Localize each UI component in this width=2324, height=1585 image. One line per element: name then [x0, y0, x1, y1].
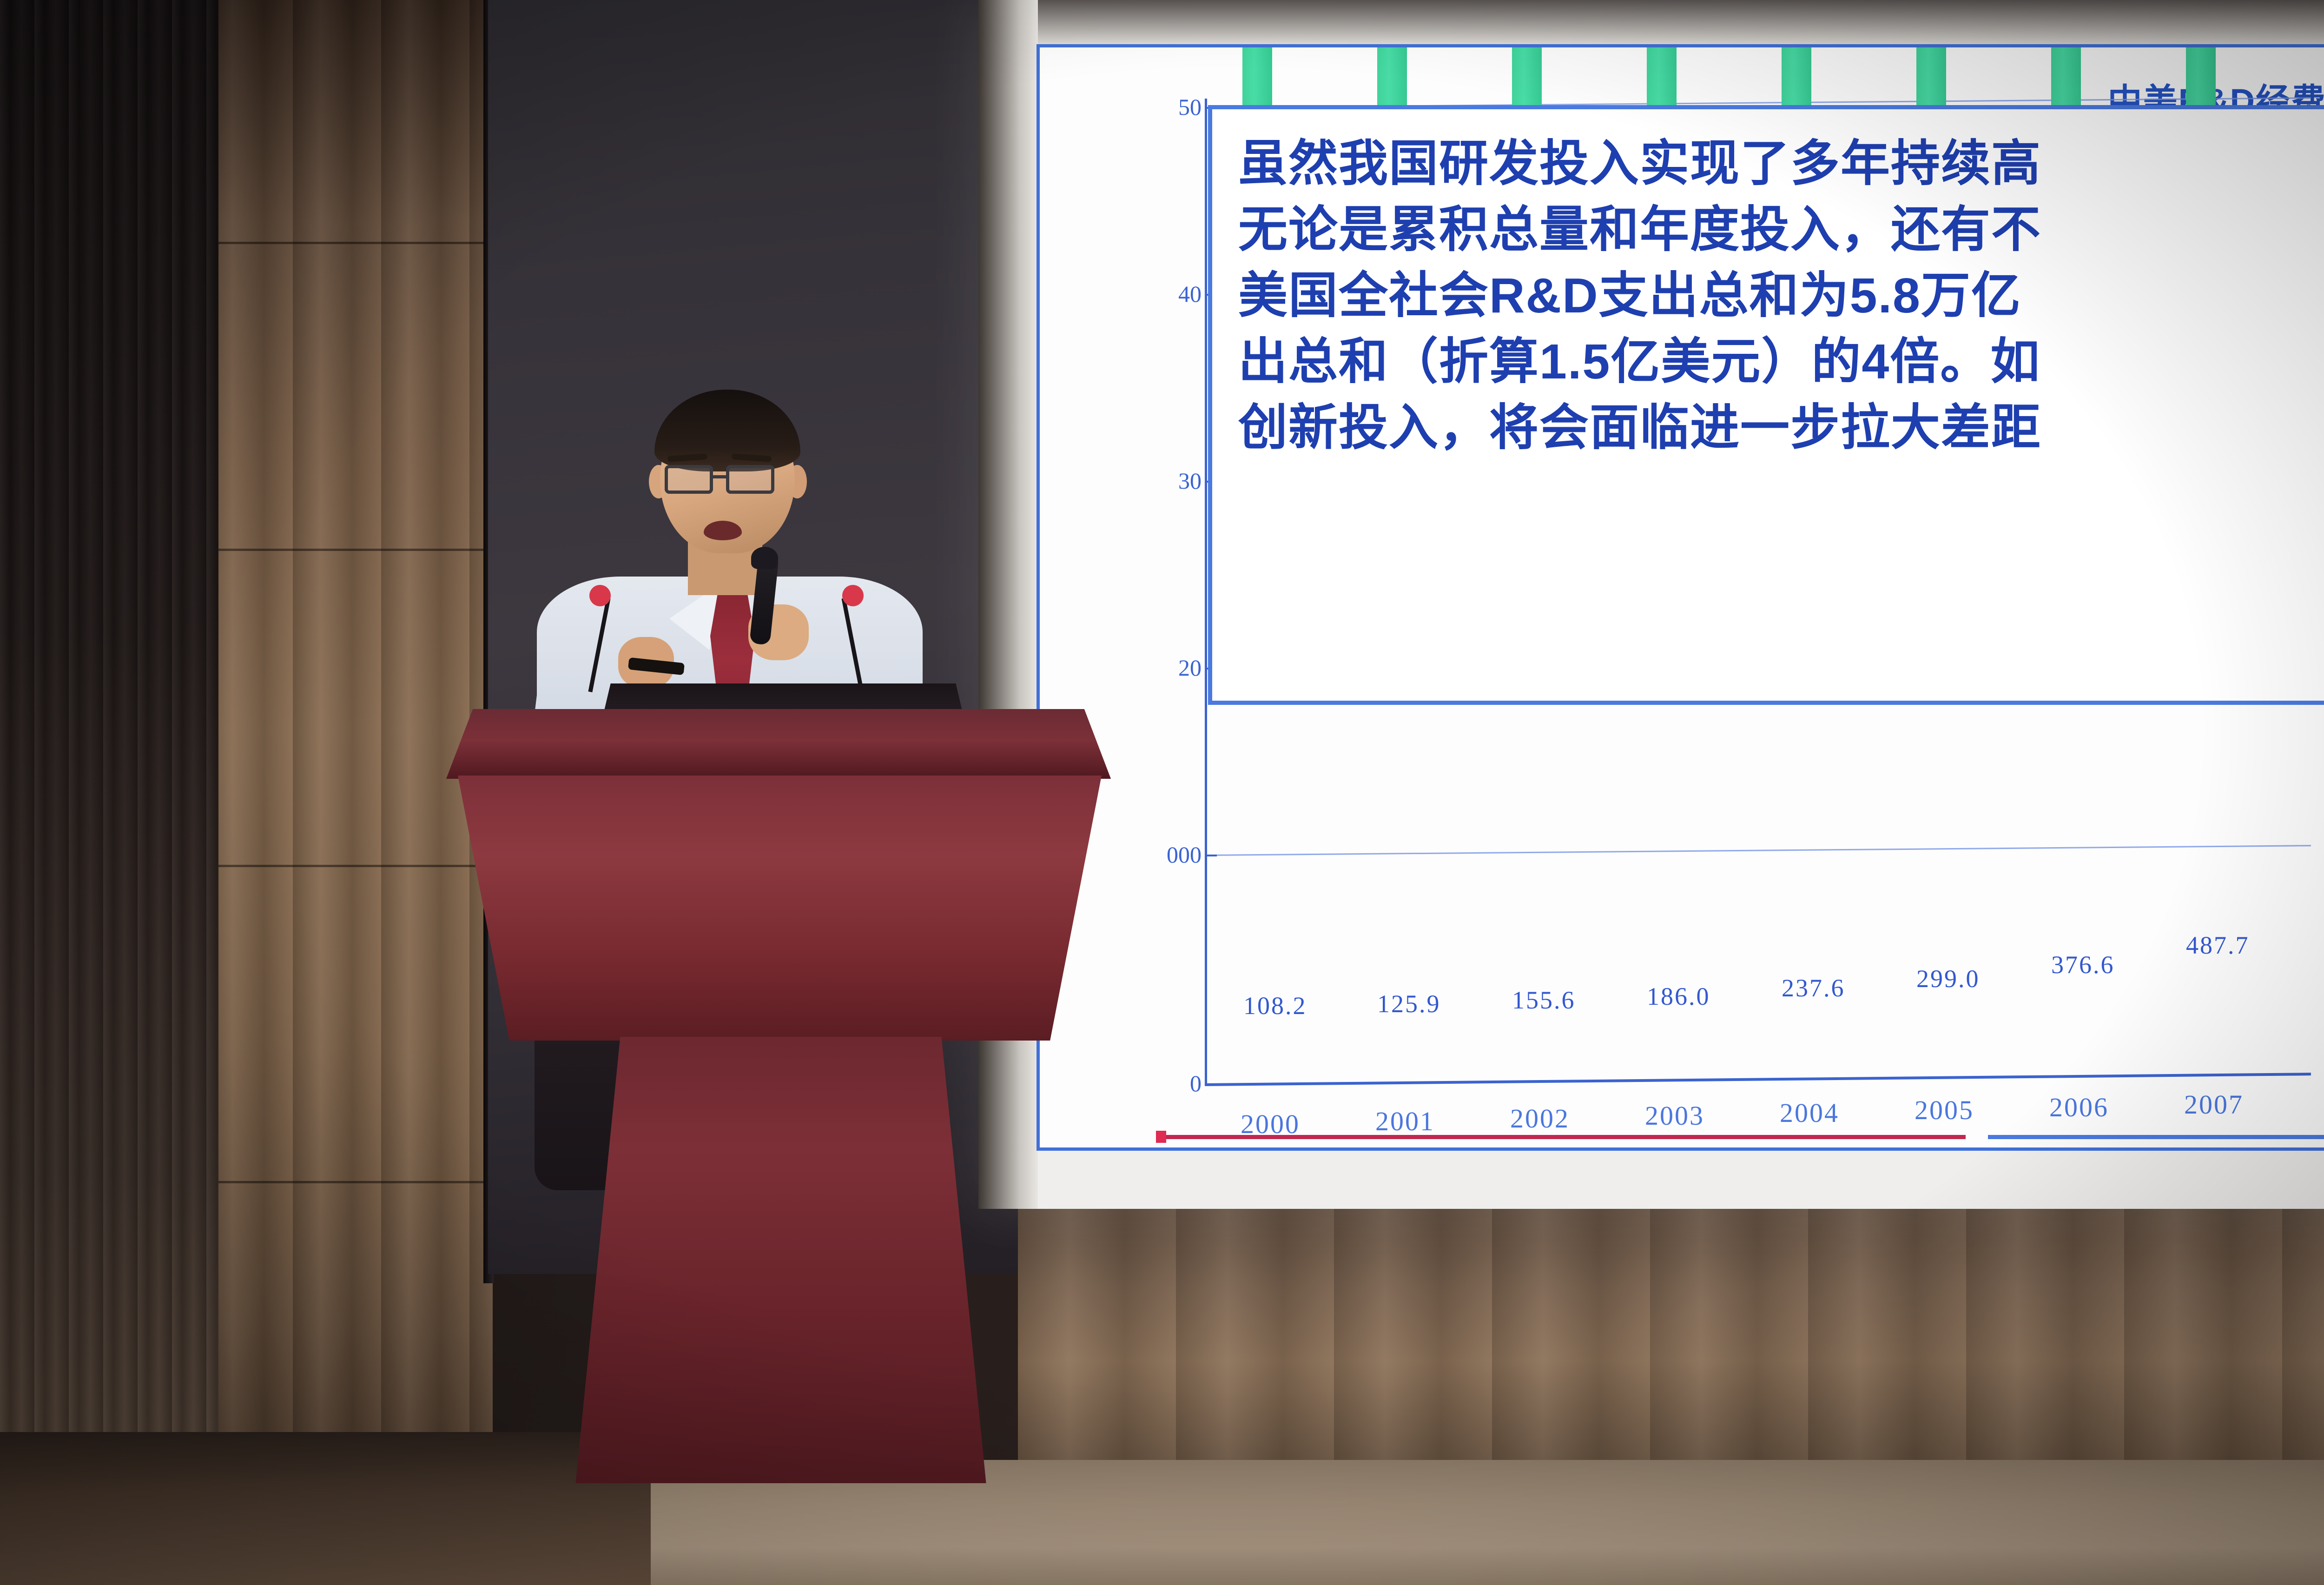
- strip-line-blue: [1988, 1135, 2324, 1139]
- slide-bottom-strip: [1156, 1131, 2324, 1143]
- slide-text-line: 美国全社会R&D支出总和为5.8万亿: [1238, 263, 2324, 329]
- slide-textbox: 虽然我国研发投入实现了多年持续高 无论是累积总量和年度投入，还有不 美国全社会R…: [1208, 105, 2324, 705]
- glasses-icon: [726, 465, 774, 494]
- projection-screen: 中美R&D经费支 50 40 30 20 000 0: [1037, 44, 2324, 1151]
- slide-text-line: 无论是累积总量和年度投入，还有不: [1238, 197, 2324, 263]
- wood-wall-panel: [205, 0, 493, 1585]
- screen-top-bar: [978, 0, 2324, 44]
- wood-wall-below-screen: [1018, 1200, 2324, 1460]
- x-axis-label: 2005: [1915, 1094, 1974, 1126]
- bar-data-label: 487.7: [2186, 931, 2250, 960]
- bar-data-label: 376.6: [2051, 950, 2115, 979]
- bar-data-label: 299.0: [1916, 964, 1980, 993]
- strip-line-red: [1166, 1135, 1966, 1139]
- podium-base: [558, 1037, 1004, 1483]
- strip-marker: [1156, 1131, 1166, 1143]
- podium-top: [446, 709, 1111, 779]
- bar-data-label: 155.6: [1512, 986, 1576, 1015]
- bar-data-label: 186.0: [1647, 982, 1710, 1011]
- microphone-head-left: [589, 585, 611, 606]
- hall-floor-left: [0, 1432, 651, 1585]
- x-axis-label: 2003: [1645, 1100, 1704, 1131]
- presentation-photo: 中美R&D经费支 50 40 30 20 000 0: [0, 0, 2324, 1585]
- microphone-head-right: [842, 585, 864, 606]
- glasses-icon: [665, 465, 713, 494]
- x-axis-label: 2006: [2049, 1092, 2109, 1123]
- wooden-podium: [458, 776, 1102, 1041]
- slide-text-line: 出总和（折算1.5亿美元）的4倍。如: [1238, 329, 2324, 395]
- bar-data-label: 108.2: [1243, 991, 1307, 1020]
- glasses-bridge: [713, 475, 726, 478]
- slide-text-line: 虽然我国研发投入实现了多年持续高: [1238, 131, 2324, 197]
- x-axis-label: 2002: [1510, 1103, 1570, 1134]
- x-axis-label: 2007: [2184, 1089, 2244, 1120]
- slide-text-line: 创新投入，将会面临进一步拉大差距: [1238, 395, 2324, 461]
- microphone-capsule: [751, 547, 778, 569]
- speaker-mouth: [704, 521, 742, 540]
- bar-data-label: 237.6: [1782, 974, 1845, 1002]
- bar-data-label: 125.9: [1377, 989, 1441, 1018]
- x-axis-label: 2004: [1780, 1097, 1839, 1128]
